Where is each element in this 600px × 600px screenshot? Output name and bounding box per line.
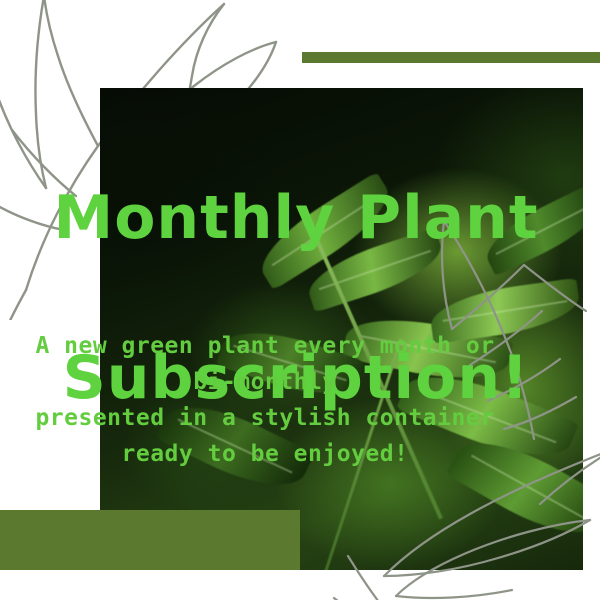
- olive-accent-bar: [302, 52, 600, 63]
- body-line-3: presented in a stylish container: [0, 400, 530, 436]
- body-copy: A new green plant every month or bi-mont…: [0, 328, 530, 472]
- olive-accent-block: [0, 510, 300, 570]
- poster-canvas: Monthly Plant Subscription! A new green …: [0, 0, 600, 600]
- headline-line-1: Monthly Plant: [0, 178, 592, 258]
- body-line-1: A new green plant every month or: [0, 328, 530, 364]
- body-line-2: bi-monthly: [0, 364, 530, 400]
- body-line-4: ready to be enjoyed!: [0, 436, 530, 472]
